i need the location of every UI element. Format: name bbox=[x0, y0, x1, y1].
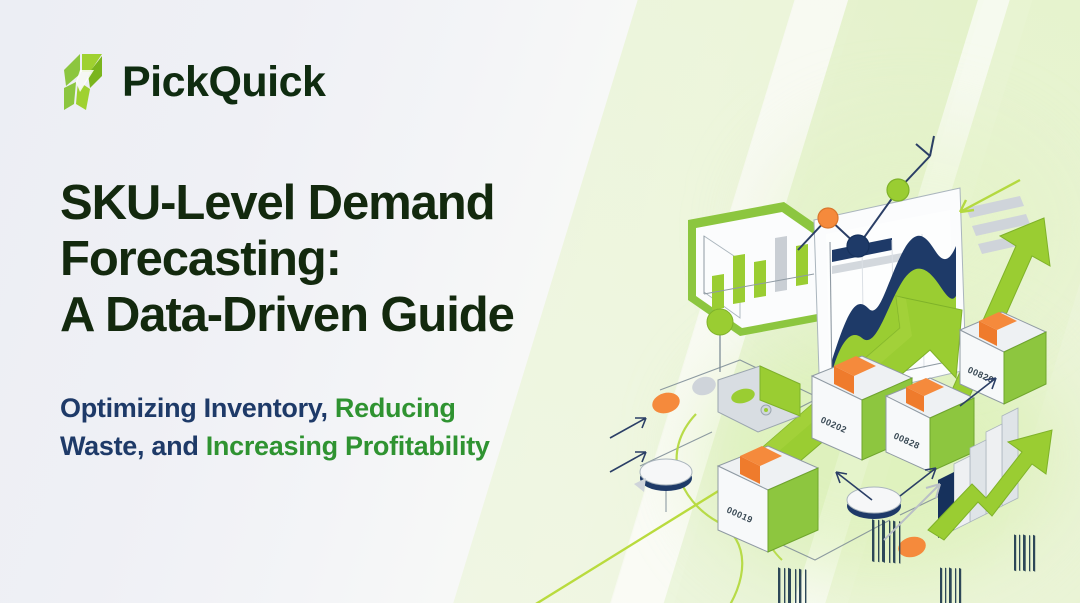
barcode-00828 bbox=[940, 567, 961, 603]
lime-diagonal bbox=[510, 490, 720, 603]
navy-disc-right bbox=[847, 487, 901, 519]
subtitle-accent-2: Increasing Profitability bbox=[206, 431, 490, 461]
brand-logo[interactable]: PickQuick bbox=[60, 52, 325, 112]
barcode-00820 bbox=[1014, 534, 1035, 571]
sku-box-00202: 00202 bbox=[812, 356, 912, 564]
subtitle-plain-2: Waste, and bbox=[60, 431, 199, 461]
navy-node bbox=[847, 235, 869, 257]
brand-wordmark: PickQuick bbox=[122, 61, 325, 104]
subtitle-accent-1: Reducing bbox=[335, 393, 456, 423]
subtitle-plain-1: Optimizing Inventory, bbox=[60, 393, 328, 423]
lightning-bolt-icon bbox=[60, 52, 106, 112]
gray-triangle bbox=[634, 478, 646, 492]
barcode-00019 bbox=[778, 567, 806, 603]
hero-illustration: 00019 00202 bbox=[600, 60, 1080, 590]
green-node bbox=[887, 179, 909, 201]
sku-box-00019: 00019 bbox=[718, 446, 818, 603]
orange-ellipse bbox=[650, 390, 682, 417]
orange-ellipse-2 bbox=[896, 534, 928, 560]
barcode-00202 bbox=[872, 519, 900, 564]
poster-canvas: PickQuick SKU-Level Demand Forecasting: … bbox=[0, 0, 1080, 603]
subtitle-line-2: Waste, and Increasing Profitability bbox=[60, 427, 660, 465]
page-subtitle: Optimizing Inventory, Reducing Waste, an… bbox=[60, 389, 660, 466]
navy-disc-left bbox=[640, 459, 692, 491]
orange-node bbox=[818, 208, 838, 228]
subtitle-line-1: Optimizing Inventory, Reducing bbox=[60, 389, 660, 427]
